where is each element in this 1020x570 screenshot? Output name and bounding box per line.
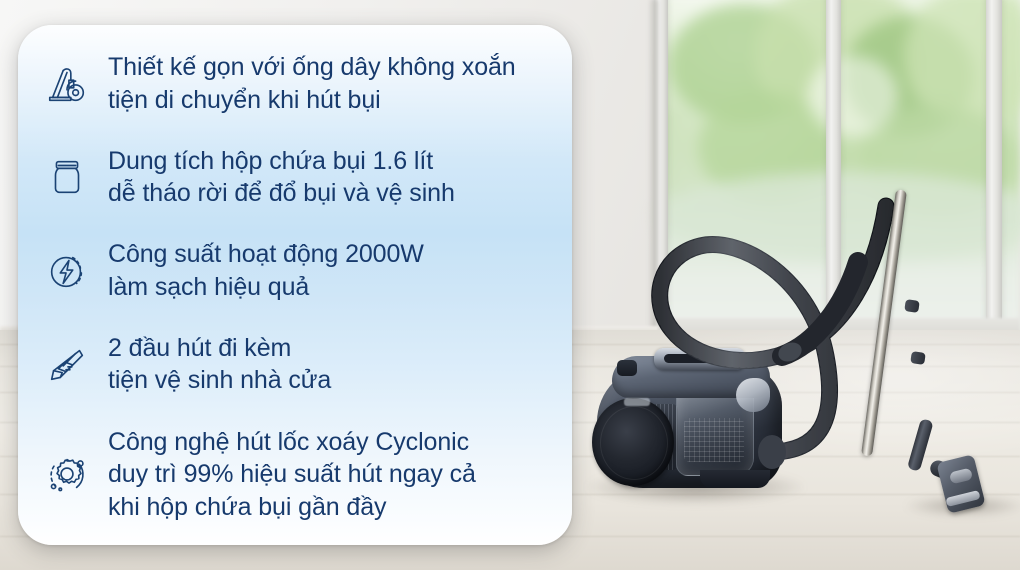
wand-lock-clip — [910, 351, 926, 365]
feature-label: 2 đầu hút đi kèm tiện vệ sinh nhà cửa — [108, 332, 331, 397]
feature-label: Dung tích hộp chứa bụi 1.6 lít dễ tháo r… — [108, 145, 455, 210]
feature-list-card: Thiết kế gọn với ống dây không xoắn tiện… — [18, 25, 572, 545]
product-feature-banner: Thiết kế gọn với ống dây không xoắn tiện… — [0, 0, 1020, 570]
feature-item-design: Thiết kế gọn với ống dây không xoắn tiện… — [40, 51, 550, 116]
cyclonic-gear-icon — [40, 447, 94, 501]
feature-item-cyclonic: Công nghệ hút lốc xoáy Cyclonic duy trì … — [40, 426, 550, 524]
power-bolt-icon — [40, 244, 94, 298]
feature-label: Thiết kế gọn với ống dây không xoắn tiện… — [108, 51, 516, 116]
feature-item-capacity: Dung tích hộp chứa bụi 1.6 lít dễ tháo r… — [40, 145, 550, 210]
dust-container-icon — [40, 150, 94, 204]
feature-label: Công suất hoạt động 2000W làm sạch hiệu … — [108, 238, 424, 303]
feature-item-power: Công suất hoạt động 2000W làm sạch hiệu … — [40, 238, 550, 303]
feature-item-accessories: 2 đầu hút đi kèm tiện vệ sinh nhà cửa — [40, 332, 550, 397]
vacuum-cleaner-icon — [40, 57, 94, 111]
wand-release-clip — [904, 299, 920, 313]
nozzle-brush-icon — [40, 337, 94, 391]
feature-label: Công nghệ hút lốc xoáy Cyclonic duy trì … — [108, 426, 476, 524]
